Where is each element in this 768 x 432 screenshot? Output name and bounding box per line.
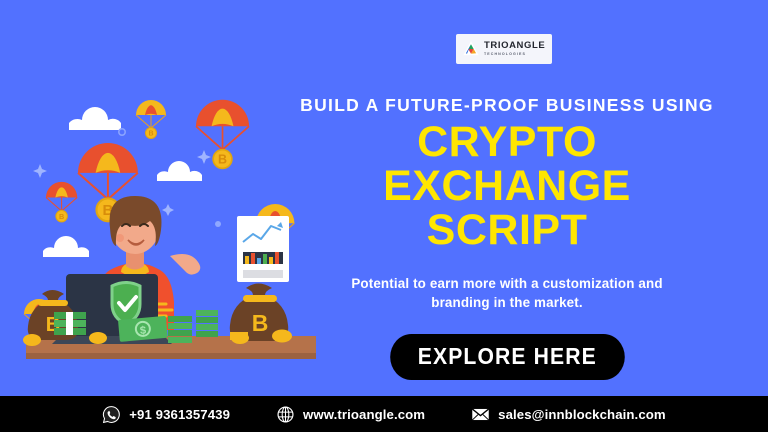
svg-text:B: B [252,310,269,336]
footer-website[interactable]: www.trioangle.com [276,405,425,424]
whatsapp-icon [102,405,121,424]
eyebrow-text: BUILD A FUTURE-PROOF BUSINESS USING [292,96,722,115]
phone-number: +91 9361357439 [129,407,230,422]
brand-tagline: TECHNOLOGIES [484,53,545,57]
subheadline-line-1: Potential to earn more with a customizat… [351,276,662,291]
headline-line-1: CRYPTO EXCHANGE [383,118,631,210]
svg-text:$: $ [139,325,146,337]
page-title: CRYPTO EXCHANGE SCRIPT [292,121,722,253]
footer-phone[interactable]: +91 9361357439 [102,405,230,424]
trioangle-triangle-logo-icon [463,41,479,57]
footer-email[interactable]: sales@innblockchain.com [471,405,666,424]
subheadline-line-2: branding in the market. [431,295,583,310]
headline-line-2: SCRIPT [292,209,722,253]
envelope-icon [471,405,490,424]
subheadline-text: Potential to earn more with a customizat… [292,274,722,312]
contact-footer: +91 9361357439 www.trioangle.com sal [0,396,768,432]
svg-text:B: B [59,212,64,221]
headline-block: BUILD A FUTURE-PROOF BUSINESS USING CRYP… [292,96,722,380]
hero-illustration: B B [18,88,328,376]
website-url: www.trioangle.com [303,407,425,422]
explore-here-button[interactable]: EXPLORE HERE [390,334,624,380]
brand-name: TRIOANGLE [484,41,545,51]
cta-container: EXPLORE HERE [292,334,722,380]
globe-icon [276,405,295,424]
svg-text:B: B [148,131,153,138]
brand-logo-text: TRIOANGLE TECHNOLOGIES [484,41,545,56]
email-address: sales@innblockchain.com [498,407,666,422]
chart-card [237,216,289,282]
brand-logo[interactable]: TRIOANGLE TECHNOLOGIES [456,34,552,64]
marketing-banner: TRIOANGLE TECHNOLOGIES BUILD A FUTURE-PR… [0,0,768,432]
svg-text:B: B [218,153,227,167]
